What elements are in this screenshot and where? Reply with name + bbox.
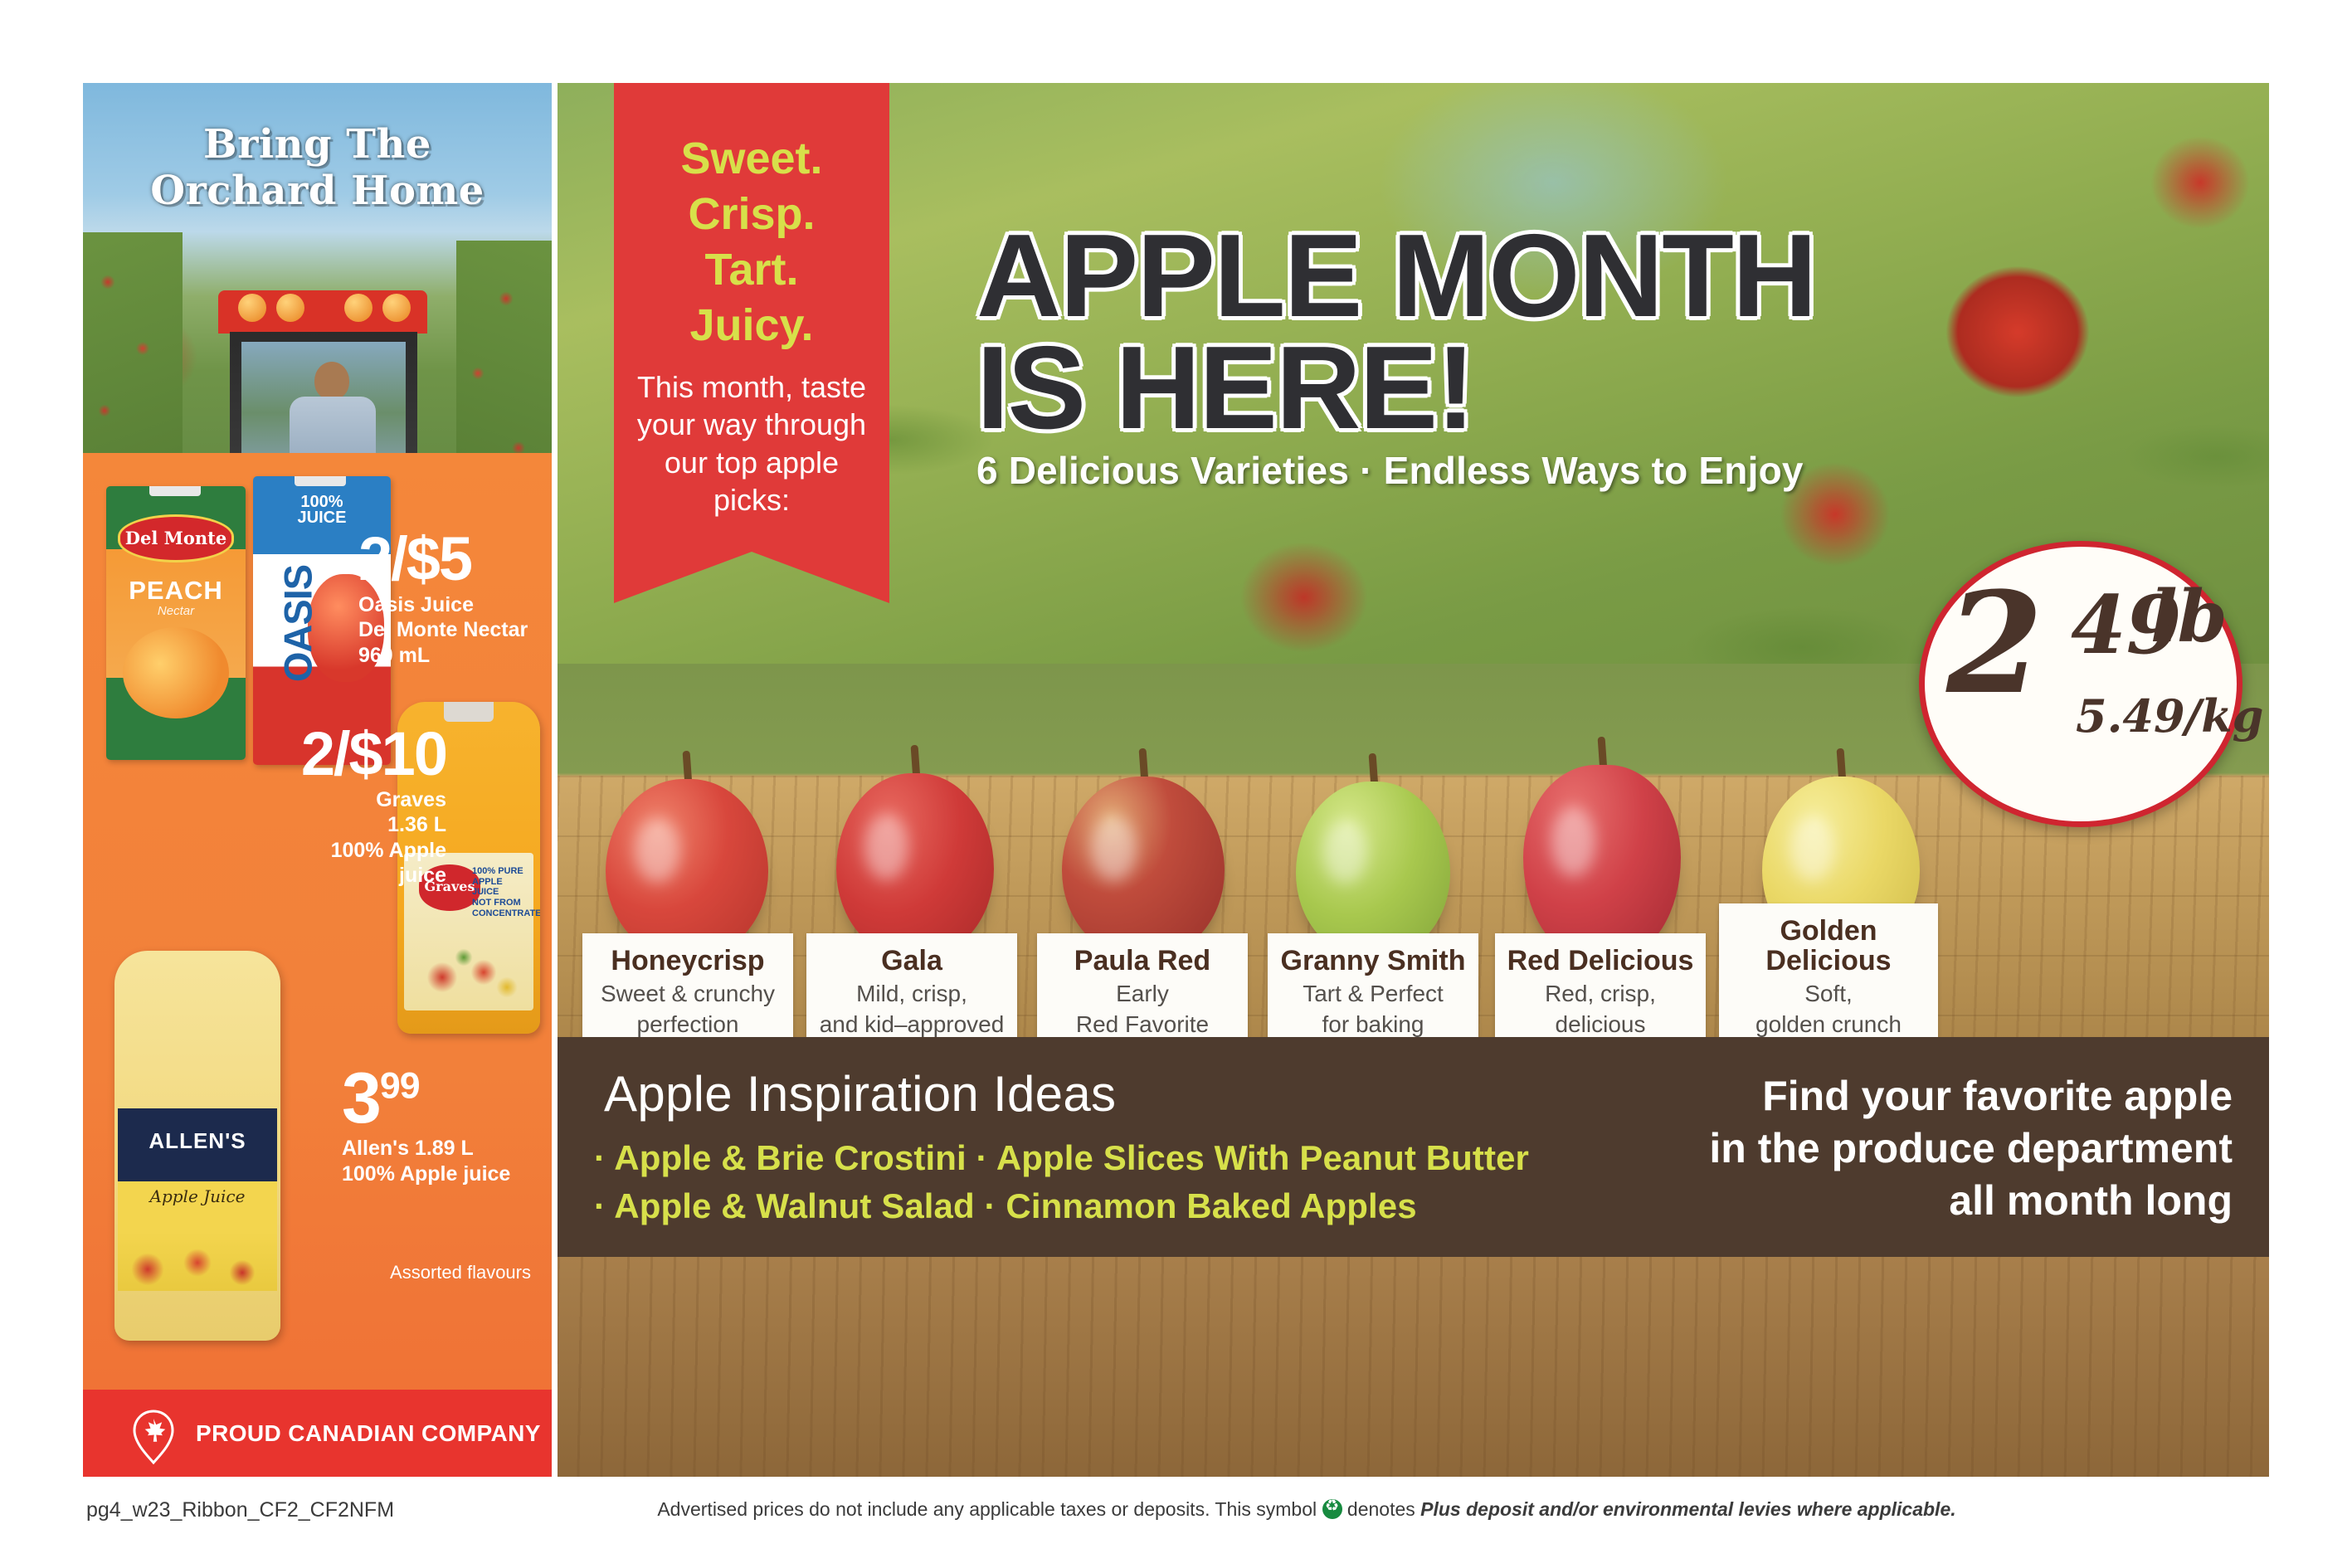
ribbon-subtext: This month, taste your way through our t…	[635, 368, 868, 519]
graves-apples-illustration	[414, 939, 523, 1004]
price-value: 2/$5	[358, 532, 545, 587]
variety-desc-line-1: Tart & Perfect	[1274, 980, 1472, 1008]
price-description: Oasis Juice Del Monte Nectar 960 mL	[358, 592, 545, 669]
variety-card-golden-delicious: Golden Delicious Soft, golden crunch	[1719, 903, 1938, 1054]
ribbon-keyword-3: Tart.	[635, 242, 868, 298]
page-title: APPLE MONTH IS HERE!	[976, 221, 2196, 445]
find-line-1: Find your favorite apple	[1502, 1070, 2233, 1122]
price-block-oasis-delmonte: 2/$5 Oasis Juice Del Monte Nectar 960 mL	[358, 532, 545, 668]
inspiration-ideas-line-2: · Apple & Walnut Salad · Cinnamon Baked …	[594, 1186, 1417, 1226]
apple-image-paula-red	[1062, 777, 1225, 957]
delmonte-flavour-label: PEACH	[106, 576, 246, 606]
variety-name: Granny Smith	[1274, 947, 1472, 976]
bottle-cap	[444, 702, 494, 722]
find-line-3: all month long	[1502, 1175, 2233, 1227]
variety-desc-line-2: for baking	[1274, 1010, 1472, 1039]
sidebar-products-area: Del Monte PEACH Nectar 100% JUICE OASIS …	[83, 453, 552, 1477]
sidebar-hero-title: Bring The Orchard Home	[83, 121, 552, 214]
allens-bottle-image: ALLEN'S Apple Juice	[114, 951, 280, 1341]
flyer-page: Bring The Orchard Home Del Monte PEACH N…	[0, 0, 2352, 1568]
variety-desc-line-1: Early	[1044, 980, 1241, 1008]
variety-card-granny-smith: Granny Smith Tart & Perfect for baking	[1268, 933, 1478, 1054]
allens-logo: ALLEN'S	[118, 1128, 277, 1154]
apple-qualities-ribbon: Sweet. Crisp. Tart. Juicy. This month, t…	[614, 83, 889, 603]
ribbon-keyword-4: Juicy.	[635, 298, 868, 353]
carton-cap	[149, 486, 201, 496]
headline-line-2: IS HERE!	[976, 333, 2196, 445]
maple-leaf-pin-icon	[129, 1410, 178, 1458]
delmonte-type-label: Nectar	[106, 604, 246, 618]
tractor-windshield	[241, 342, 406, 471]
variety-card-paula-red: Paula Red Early Red Favorite	[1037, 933, 1248, 1054]
assorted-flavours-note: Assorted flavours	[315, 1262, 531, 1283]
ribbon-keyword-2: Crisp.	[635, 187, 868, 242]
tractor-lamp-icon	[238, 294, 266, 322]
carton-cap	[295, 476, 346, 486]
ribbon-point-shape	[614, 552, 889, 603]
desc-line-1: Oasis Juice	[358, 592, 545, 618]
ribbon-body: Sweet. Crisp. Tart. Juicy. This month, t…	[614, 83, 889, 552]
apple-image-red-delicious	[1523, 765, 1681, 957]
desc-line-1: Allen's 1.89 L	[342, 1136, 541, 1161]
find-apple-callout: Find your favorite apple in the produce …	[1502, 1070, 2233, 1227]
delmonte-carton-image: Del Monte PEACH Nectar	[106, 486, 246, 760]
inspiration-title: Apple Inspiration Ideas	[604, 1065, 1116, 1122]
desc-line-1: Graves	[256, 787, 446, 813]
variety-desc-line-1: Mild, crisp,	[813, 980, 1010, 1008]
graves-claim-line-1: 100% PURE	[472, 866, 527, 877]
apple-image-granny-smith	[1296, 782, 1450, 957]
apple-body	[606, 779, 768, 957]
disclaimer-text-before: Advertised prices do not include any app…	[657, 1498, 1317, 1520]
variety-name: Red Delicious	[1502, 947, 1699, 976]
allens-apples-illustration	[118, 1230, 277, 1291]
oasis-logo: OASIS	[275, 541, 321, 707]
variety-desc-line-1: Sweet & crunchy	[589, 980, 786, 1008]
desc-line-4: juice	[256, 863, 446, 889]
hero-title-line-2: Orchard Home	[83, 168, 552, 214]
oasis-claim: 100% JUICE	[253, 494, 391, 526]
price-cents: 99	[380, 1065, 420, 1106]
disclaimer-text-italic: Plus deposit and/or environmental levies…	[1420, 1498, 1955, 1520]
tractor-lamp-icon	[276, 294, 304, 322]
variety-desc-line-2: Red Favorite	[1044, 1010, 1241, 1039]
desc-line-2: Del Monte Nectar	[358, 617, 545, 643]
graves-claim: 100% PURE APPLE JUICE NOT FROM CONCENTRA…	[472, 866, 527, 918]
ribbon-keywords: Sweet. Crisp. Tart. Juicy.	[635, 131, 868, 353]
price-block-graves: 2/$10 Graves 1.36 L 100% Apple juice	[256, 727, 446, 889]
allens-product-name: Apple Juice	[118, 1186, 277, 1206]
badge-unit: lb	[2150, 575, 2228, 659]
desc-line-3: 960 mL	[358, 643, 545, 669]
tractor-lamp-icon	[344, 294, 373, 322]
apple-body	[1062, 777, 1225, 957]
variety-desc-line-1: Red, crisp,	[1502, 980, 1699, 1008]
peach-illustration	[123, 627, 229, 718]
allens-label: ALLEN'S Apple Juice	[118, 1108, 277, 1291]
variety-card-honeycrisp: Honeycrisp Sweet & crunchy perfection	[582, 933, 793, 1054]
price-value: 2/$10	[256, 727, 446, 782]
variety-name: Honeycrisp	[589, 947, 786, 976]
disclaimer-text-mid: denotes	[1347, 1498, 1415, 1520]
desc-line-3: 100% Apple	[256, 838, 446, 864]
proud-canadian-label: PROUD CANADIAN COMPANY	[196, 1420, 541, 1447]
main-apple-feature-panel: Sweet. Crisp. Tart. Juicy. This month, t…	[558, 83, 2269, 1477]
driver-head	[314, 362, 349, 400]
apple-image-honeycrisp	[606, 779, 768, 957]
price-description: Graves 1.36 L 100% Apple juice	[256, 787, 446, 889]
apple-image-gala	[836, 773, 994, 957]
inspiration-band: Apple Inspiration Ideas · Apple & Brie C…	[558, 1037, 2269, 1257]
variety-name: Gala	[813, 947, 1010, 976]
variety-card-red-delicious: Red Delicious Red, crisp, delicious	[1495, 933, 1706, 1054]
variety-desc-line-2: perfection	[589, 1010, 786, 1039]
variety-desc-line-1: Soft,	[1726, 980, 1931, 1008]
variety-desc-line-2: golden crunch	[1726, 1010, 1931, 1039]
desc-line-2: 100% Apple juice	[342, 1161, 541, 1187]
variety-name: Paula Red	[1044, 947, 1241, 976]
page-code-label: pg4_w23_Ribbon_CF2_CF2NFM	[86, 1498, 394, 1522]
desc-line-2: 1.36 L	[256, 812, 446, 838]
find-line-2: in the produce department	[1502, 1122, 2233, 1175]
graves-claim-line-3: NOT FROM CONCENTRATE	[472, 898, 527, 918]
legal-disclaimer: Advertised prices do not include any app…	[655, 1498, 1958, 1521]
recycle-icon	[1322, 1499, 1342, 1519]
apple-body	[1296, 782, 1450, 957]
price-badge: 2 49 lb 5.49/kg	[1919, 541, 2242, 827]
variety-name: Golden Delicious	[1726, 917, 1931, 976]
proud-canadian-banner: PROUD CANADIAN COMPANY	[83, 1390, 552, 1477]
apple-body	[836, 773, 994, 957]
bottom-wood-band	[558, 1257, 2269, 1477]
price-value: 399	[342, 1067, 541, 1131]
headline-line-1: APPLE MONTH	[976, 221, 2196, 333]
variety-desc-line-2: delicious	[1502, 1010, 1699, 1039]
ribbon-keyword-1: Sweet.	[635, 131, 868, 187]
sidebar-juice-panel: Bring The Orchard Home Del Monte PEACH N…	[83, 83, 552, 1477]
badge-dollars: 2	[1946, 573, 2043, 713]
variety-desc-line-2: and kid–approved	[813, 1010, 1010, 1039]
graves-claim-line-2: APPLE JUICE	[472, 877, 527, 898]
subheadline: 6 Delicious Varieties · Endless Ways to …	[976, 448, 1804, 493]
badge-metric-price: 5.49/kg	[2076, 689, 2263, 743]
inspiration-ideas-line-1: · Apple & Brie Crostini · Apple Slices W…	[594, 1138, 1529, 1178]
price-block-allens: 399 Allen's 1.89 L 100% Apple juice	[342, 1067, 541, 1186]
price-description: Allen's 1.89 L 100% Apple juice	[342, 1136, 541, 1186]
tractor-lamp-icon	[382, 294, 411, 322]
apple-body	[1523, 765, 1681, 957]
delmonte-logo: Del Monte	[118, 514, 234, 562]
variety-card-gala: Gala Mild, crisp, and kid–approved	[806, 933, 1017, 1054]
hero-title-line-1: Bring The	[83, 121, 552, 168]
